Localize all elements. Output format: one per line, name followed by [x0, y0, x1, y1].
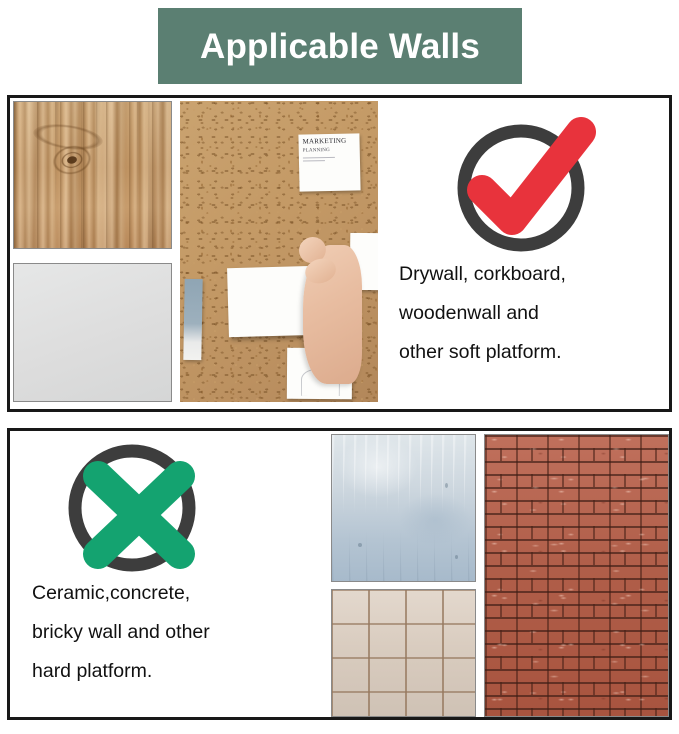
brick-row — [485, 656, 668, 669]
applicable-caption: Drywall, corkboard, woodenwall and other… — [399, 255, 566, 372]
wood-wall-texture — [13, 101, 172, 249]
brick-row — [485, 682, 668, 695]
brick-row — [485, 552, 668, 565]
caption-line: other soft platform. — [399, 333, 566, 372]
caption-line: Ceramic,concrete, — [32, 574, 210, 613]
concrete-wall-texture — [331, 434, 476, 582]
concrete-blemish — [445, 483, 448, 488]
check-circle-icon — [457, 120, 597, 256]
corkboard-photo: MARKETING PLANNING — [180, 101, 378, 402]
note-title: MARKETING — [302, 138, 356, 146]
not-applicable-caption: Ceramic,concrete, bricky wall and other … — [32, 574, 210, 691]
brick-row — [485, 474, 668, 487]
brick-row — [485, 708, 668, 717]
ceramic-tile-texture — [331, 589, 476, 717]
caption-line: woodenwall and — [399, 294, 566, 333]
brick-row — [485, 500, 668, 513]
corkboard-blue-strip — [183, 278, 202, 360]
page-title: Applicable Walls — [200, 29, 480, 64]
concrete-blemish — [358, 543, 362, 547]
brick-row — [485, 604, 668, 617]
note-subtitle: PLANNING — [302, 148, 355, 154]
concrete-blemish — [455, 555, 458, 559]
note-rule — [303, 160, 325, 161]
hand-photo — [303, 245, 362, 383]
page-title-banner: Applicable Walls — [158, 8, 522, 84]
applicable-walls-panel: MARKETING PLANNING — [7, 95, 672, 412]
brick-row — [485, 448, 668, 461]
note-rule — [303, 157, 335, 159]
brick-row — [485, 630, 668, 643]
brick-row — [485, 526, 668, 539]
brick-row — [485, 578, 668, 591]
brick-wall-texture — [484, 434, 669, 717]
corkboard-note-marketing: MARKETING PLANNING — [298, 133, 361, 191]
cross-circle-icon — [68, 440, 208, 576]
drywall-panel-texture — [13, 263, 172, 402]
caption-line: hard platform. — [32, 652, 210, 691]
caption-line: bricky wall and other — [32, 613, 210, 652]
wood-grain-detail — [31, 121, 104, 155]
caption-line: Drywall, corkboard, — [399, 255, 566, 294]
not-applicable-walls-panel: Ceramic,concrete, bricky wall and other … — [7, 428, 672, 720]
